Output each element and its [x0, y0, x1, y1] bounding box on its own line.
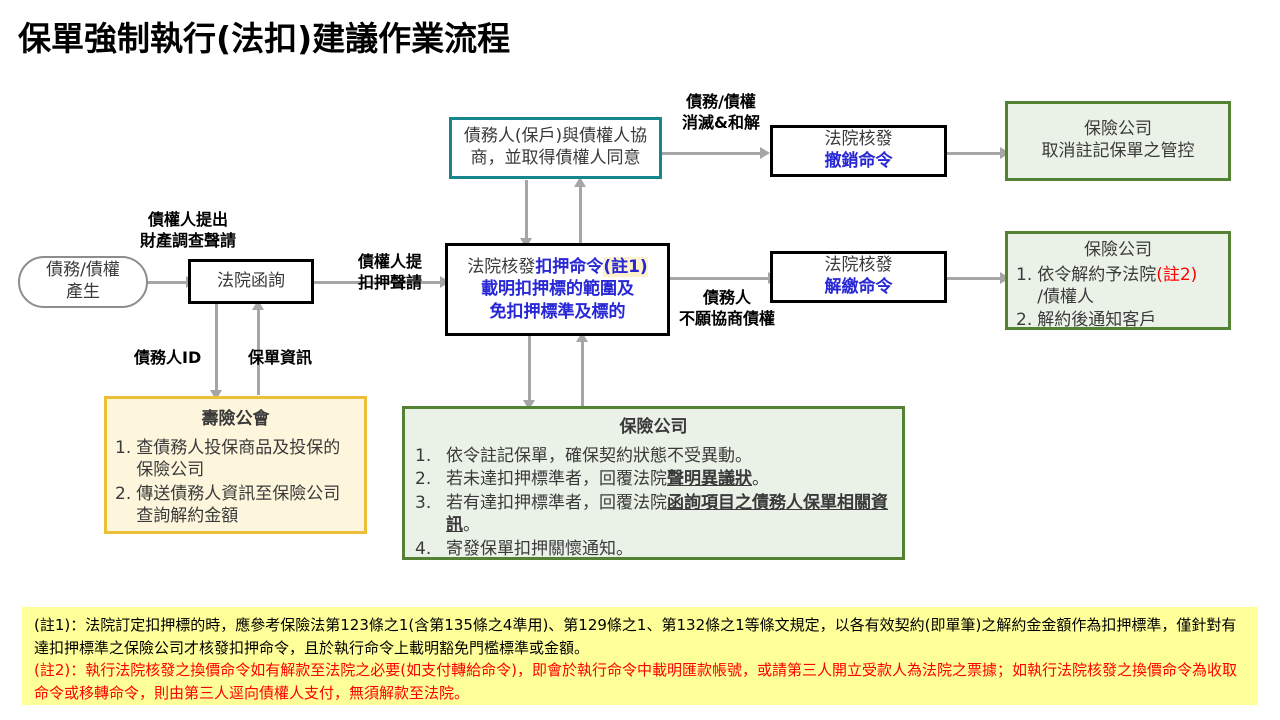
connector-court-to-association [215, 303, 218, 393]
node-seizure-order-keyword: 扣押命令 [535, 257, 603, 277]
node-negotiation-line1: 債務人(保戶)與債權人協 [464, 126, 647, 148]
node-remit-order-line1: 法院核發 [825, 255, 893, 277]
note-2: (註2)：執行法院核發之換價命令如有解款至法院之必要(如支付轉給命令)，即會於執… [34, 659, 1246, 704]
node-negotiation-line2: 商，並取得債權人同意 [464, 148, 647, 170]
list-item-text: 傳送債務人資訊至保險公司查詢解約金額 [136, 483, 356, 528]
node-negotiation[interactable]: 債務人(保戶)與債權人協 商，並取得債權人同意 [449, 117, 662, 179]
list-item-text: 查債務人投保商品及投保的保險公司 [136, 437, 356, 482]
connector-start-to-court [146, 281, 188, 284]
node-seizure-order-prefix: 法院核發 [467, 257, 535, 277]
list-item-text: 依令解約予法院(註2)/債權人 [1037, 264, 1220, 309]
edge-label-creditor-application-line2: 財產調查聲請 [108, 231, 268, 252]
list-item-number: 4. [415, 538, 441, 560]
list-item-number: 1. [115, 437, 131, 459]
edge-label-creditor-seizure-request-line2: 扣押聲請 [336, 273, 444, 294]
node-insurer-actions-list: 1. 依令註記保單，確保契約狀態不受異動。 2. 若未達扣押標準者，回覆法院聲明… [415, 445, 892, 560]
connector-seizure-to-negotiation [579, 185, 582, 247]
edge-label-debt-extinguished-line1: 債務/債權 [668, 92, 774, 113]
node-seizure-order[interactable]: 法院核發扣押命令(註1) 載明扣押標的範圍及 免扣押標準及標的 [445, 243, 670, 336]
node-insurer-cancel-line2: 取消註記保單之管控 [1042, 141, 1195, 163]
list-item-text: 若未達扣押標準者，回覆法院聲明異議狀。 [446, 468, 892, 490]
edge-label-creditor-seizure-request: 債權人提 扣押聲請 [336, 252, 444, 294]
edge-label-debtor-refuses-line2: 不願協商債權 [664, 309, 790, 330]
connector-remit-to-insurer-terminate [947, 277, 1005, 280]
connector-revoke-to-insurer-cancel [947, 152, 1005, 155]
list-item-text: 寄發保單扣押關懷通知。 [446, 538, 892, 560]
list-item: 2. 若未達扣押標準者，回覆法院聲明異議狀。 [415, 468, 892, 490]
note-1: (註1)：法院訂定扣押標的時，應參考保險法第123條之1(含第135條之4準用)… [34, 614, 1246, 659]
node-insurer-actions[interactable]: 保險公司 1. 依令註記保單，確保契約狀態不受異動。 2. 若未達扣押標準者，回… [402, 406, 905, 560]
list-item-number: 3. [415, 492, 441, 514]
connector-seizure-to-insurer-actions [528, 336, 531, 404]
node-revoke-order-line1: 法院核發 [825, 129, 893, 151]
node-life-association-list: 1. 查債務人投保商品及投保的保險公司 2. 傳送債務人資訊至保險公司查詢解約金… [115, 437, 356, 528]
node-insurer-actions-head: 保險公司 [415, 417, 892, 439]
list-item-pre: 依令註記保單，確保契約狀態不受異動。 [446, 446, 752, 466]
list-item: 1. 查債務人投保商品及投保的保險公司 [115, 437, 356, 482]
flowchart-canvas: 保單強制執行(法扣)建議作業流程 債權人提出 財產調查聲請 債權人提 扣押聲請 [0, 0, 1280, 720]
list-item-note-ref: (註2) [1156, 265, 1197, 285]
node-insurer-terminate[interactable]: 保險公司 1. 依令解約予法院(註2)/債權人 2. 解約後通知客戶 [1005, 231, 1231, 330]
node-seizure-order-line1: 法院核發扣押命令(註1) [467, 256, 647, 278]
edge-label-debt-extinguished: 債務/債權 消滅&和解 [668, 92, 774, 134]
list-item-text: 依令註記保單，確保契約狀態不受異動。 [446, 445, 892, 467]
edge-label-creditor-seizure-request-line1: 債權人提 [336, 252, 444, 273]
list-item-number: 1. [415, 445, 441, 467]
node-debt-creation[interactable]: 債務/債權 產生 [18, 256, 148, 308]
list-item: 2. 傳送債務人資訊至保險公司查詢解約金額 [115, 483, 356, 528]
list-item-text: 解約後通知客戶 [1037, 309, 1220, 331]
list-item: 1. 依令解約予法院(註2)/債權人 [1016, 264, 1220, 309]
list-item: 3. 若有達扣押標準者，回覆法院函詢項目之債務人保單相關資訊。 [415, 492, 892, 537]
list-item: 1. 依令註記保單，確保契約狀態不受異動。 [415, 445, 892, 467]
edge-label-creditor-application: 債權人提出 財產調查聲請 [108, 210, 268, 252]
list-item-number: 2. [1016, 309, 1032, 331]
connector-negotiation-to-revoke [662, 152, 762, 155]
list-item-post: 。 [463, 515, 480, 535]
connector-seizure-to-remit [670, 277, 770, 280]
node-seizure-order-line3: 免扣押標準及標的 [467, 301, 647, 323]
node-life-association-head: 壽險公會 [115, 409, 356, 431]
connector-negotiation-to-seizure [525, 180, 528, 240]
list-item-number: 1. [1016, 264, 1032, 286]
list-item-number: 2. [115, 483, 131, 505]
node-court-inquiry-label: 法院函詢 [217, 271, 285, 293]
edge-label-policy-info: 保單資訊 [248, 348, 312, 369]
list-item-pre: 寄發保單扣押關懷通知。 [446, 539, 633, 559]
node-remit-order-line2: 解繳命令 [825, 277, 893, 299]
notes-panel: (註1)：法院訂定扣押標的時，應參考保險法第123條之1(含第135條之4準用)… [22, 607, 1258, 705]
node-life-insurance-association[interactable]: 壽險公會 1. 查債務人投保商品及投保的保險公司 2. 傳送債務人資訊至保險公司… [104, 396, 367, 534]
list-item-number: 2. [415, 468, 441, 490]
node-seizure-order-line2: 載明扣押標的範圍及 [467, 278, 647, 300]
node-debt-creation-line1: 債務/債權 [46, 260, 120, 282]
arrowhead-negotiation-to-revoke [760, 147, 770, 159]
list-item-pre: 若未達扣押標準者，回覆法院 [446, 469, 667, 489]
list-item: 4. 寄發保單扣押關懷通知。 [415, 538, 892, 560]
node-court-inquiry[interactable]: 法院函詢 [188, 259, 314, 304]
node-insurer-cancel-line1: 保險公司 [1042, 119, 1195, 141]
list-item-post: 。 [752, 469, 769, 489]
node-seizure-order-note-ref: (註1) [603, 257, 647, 277]
list-item-pre: 若有達扣押標準者，回覆法院 [446, 493, 667, 513]
node-insurer-terminate-list: 1. 依令解約予法院(註2)/債權人 2. 解約後通知客戶 [1016, 264, 1220, 331]
list-item-text: 若有達扣押標準者，回覆法院函詢項目之債務人保單相關資訊。 [446, 492, 892, 537]
node-revoke-order[interactable]: 法院核發 撤銷命令 [770, 125, 947, 177]
node-revoke-order-line2: 撤銷命令 [825, 151, 893, 173]
page-title: 保單強制執行(法扣)建議作業流程 [18, 12, 510, 60]
edge-label-debtor-id: 債務人ID [134, 348, 201, 369]
edge-label-creditor-application-line1: 債權人提出 [108, 210, 268, 231]
node-debt-creation-line2: 產生 [46, 282, 120, 304]
edge-label-debt-extinguished-line2: 消滅&和解 [668, 113, 774, 134]
node-insurer-terminate-head: 保險公司 [1016, 240, 1220, 262]
list-item-cont: /債權人 [1037, 287, 1094, 307]
node-insurer-cancel-control[interactable]: 保險公司 取消註記保單之管控 [1005, 101, 1231, 181]
connector-insurer-actions-to-seizure [581, 340, 584, 406]
node-remit-order[interactable]: 法院核發 解繳命令 [770, 251, 947, 303]
list-item-main: 依令解約予法院 [1037, 265, 1156, 285]
list-item-emphasis: 聲明異議狀 [667, 469, 752, 489]
list-item: 2. 解約後通知客戶 [1016, 309, 1220, 331]
